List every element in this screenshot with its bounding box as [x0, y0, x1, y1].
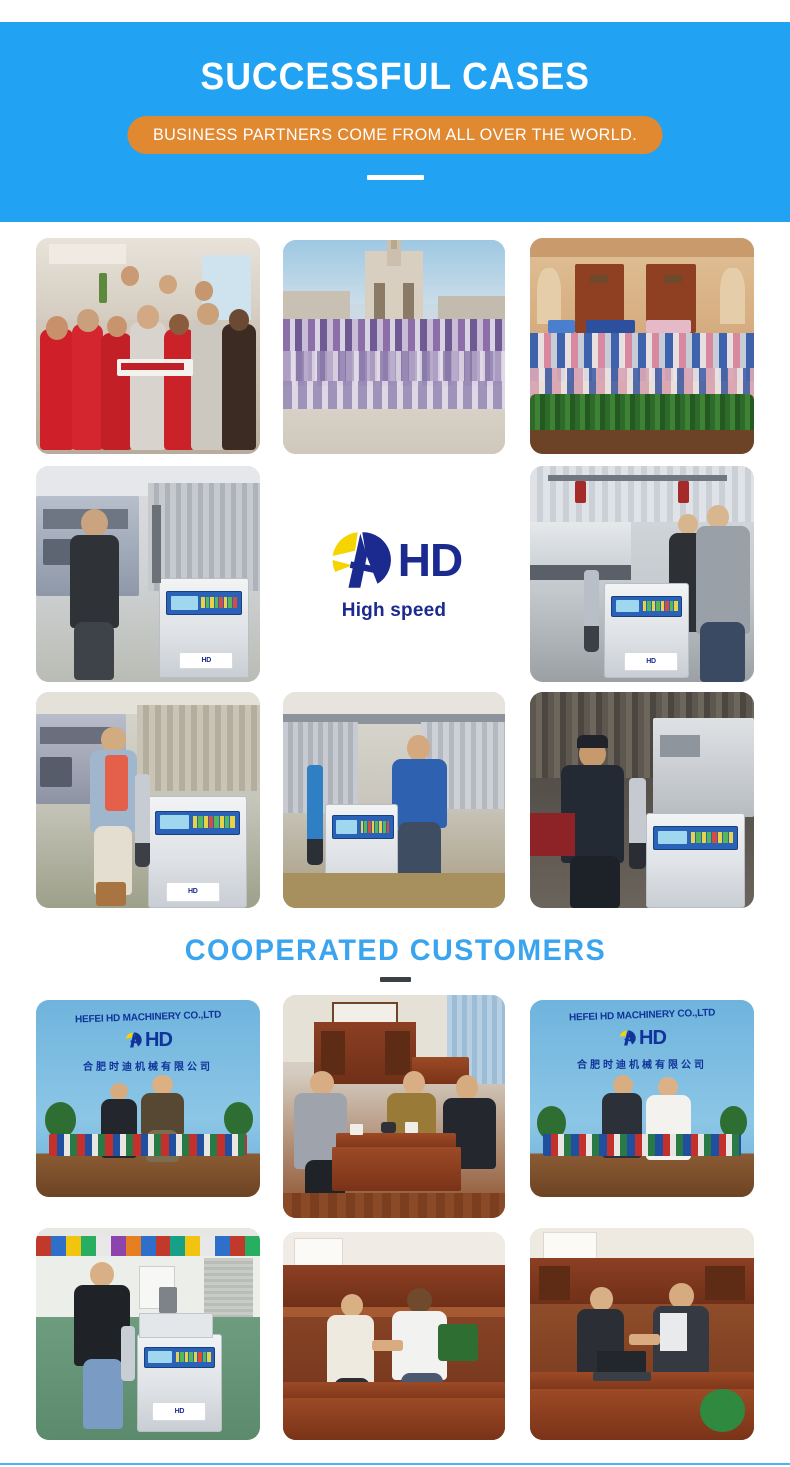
photo-scene: HD — [36, 1228, 260, 1440]
sign-logo-text: HD — [145, 1029, 172, 1052]
customer-photo-1[interactable]: HEFEI HD MACHINERY CO.,LTD HD 合肥 — [36, 1000, 260, 1197]
photo-scene — [283, 1232, 505, 1440]
photo-scene: HEFEI HD MACHINERY CO.,LTD HD 合肥 — [530, 1000, 754, 1197]
customer-photo-3[interactable]: HEFEI HD MACHINERY CO.,LTD HD 合肥 — [530, 1000, 754, 1197]
sign-company-line: HEFEI HD MACHINERY CO.,LTD — [75, 1009, 222, 1025]
cooperated-customers-gallery: HEFEI HD MACHINERY CO.,LTD HD 合肥 — [0, 0, 790, 1467]
sign-logo-text: HD — [639, 1027, 666, 1050]
customer-photo-2[interactable] — [283, 995, 505, 1218]
photo-scene — [530, 1228, 754, 1440]
page-root: SUCCESSFUL CASES BUSINESS PARTNERS COME … — [0, 0, 790, 1467]
hd-logo-icon — [618, 1029, 636, 1047]
photo-scene — [283, 995, 505, 1218]
world-flags-decoration — [36, 1236, 260, 1255]
customer-photo-5[interactable] — [283, 1232, 505, 1440]
showroom-wall-sign: HEFEI HD MACHINERY CO.,LTD HD 合肥 — [36, 1012, 260, 1073]
customer-photo-6[interactable] — [530, 1228, 754, 1440]
showroom-wall-sign: HEFEI HD MACHINERY CO.,LTD HD 合肥 — [530, 1010, 754, 1071]
photo-scene: HEFEI HD MACHINERY CO.,LTD HD 合肥 — [36, 1000, 260, 1197]
footer-rule — [0, 1463, 790, 1465]
hd-logo-icon — [124, 1031, 142, 1049]
sign-company-line: HEFEI HD MACHINERY CO.,LTD — [569, 1007, 716, 1023]
sign-chinese-line: 合肥时迪机械有限公司 — [577, 1056, 707, 1071]
customer-photo-4[interactable]: HD — [36, 1228, 260, 1440]
machine-hd-label: HD — [152, 1402, 206, 1421]
sign-chinese-line: 合肥时迪机械有限公司 — [83, 1058, 213, 1073]
